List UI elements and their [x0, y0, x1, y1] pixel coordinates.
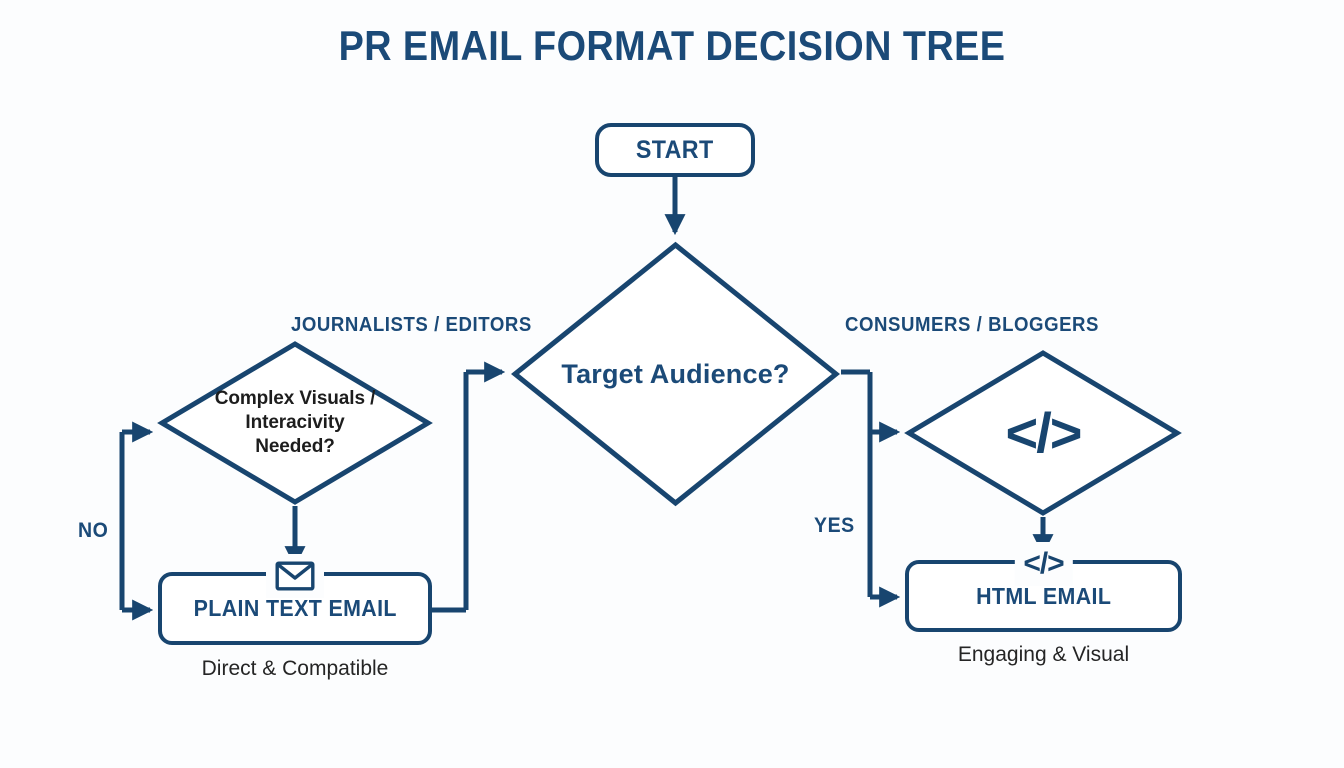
code-icon-glyph: </> [1023, 549, 1063, 579]
edge-label-consumers: CONSUMERS / BLOGGERS [845, 314, 1099, 337]
edge-label-yes: YES [814, 514, 855, 538]
envelope-icon [266, 554, 324, 598]
node-start-label: START [636, 136, 714, 165]
caption-plain-text-email: Direct & Compatible [158, 657, 432, 681]
node-plain-text-email-label: PLAIN TEXT EMAIL [193, 595, 396, 622]
page-title: PR EMAIL FORMAT DECISION TREE [67, 22, 1277, 70]
edge-label-journalists: JOURNALISTS / EDITORS [291, 314, 532, 337]
node-html-email[interactable]: </> HTML EMAIL [905, 560, 1182, 632]
decision-tree-canvas: PR EMAIL FORMAT DECISION TREE START Targ… [0, 0, 1344, 768]
node-html-email-label: HTML EMAIL [976, 583, 1111, 610]
node-code-decision[interactable]: </> [905, 349, 1181, 517]
caption-html-email: Engaging & Visual [905, 643, 1182, 667]
edge-label-no: NO [78, 519, 108, 543]
node-start[interactable]: START [595, 123, 755, 177]
node-plain-text-email[interactable]: PLAIN TEXT EMAIL [158, 572, 432, 645]
code-icon: </> [1014, 542, 1072, 586]
node-target-audience[interactable]: Target Audience? [510, 240, 841, 508]
node-complex-visuals[interactable]: Complex Visuals / Interacivity Needed? [158, 340, 432, 506]
